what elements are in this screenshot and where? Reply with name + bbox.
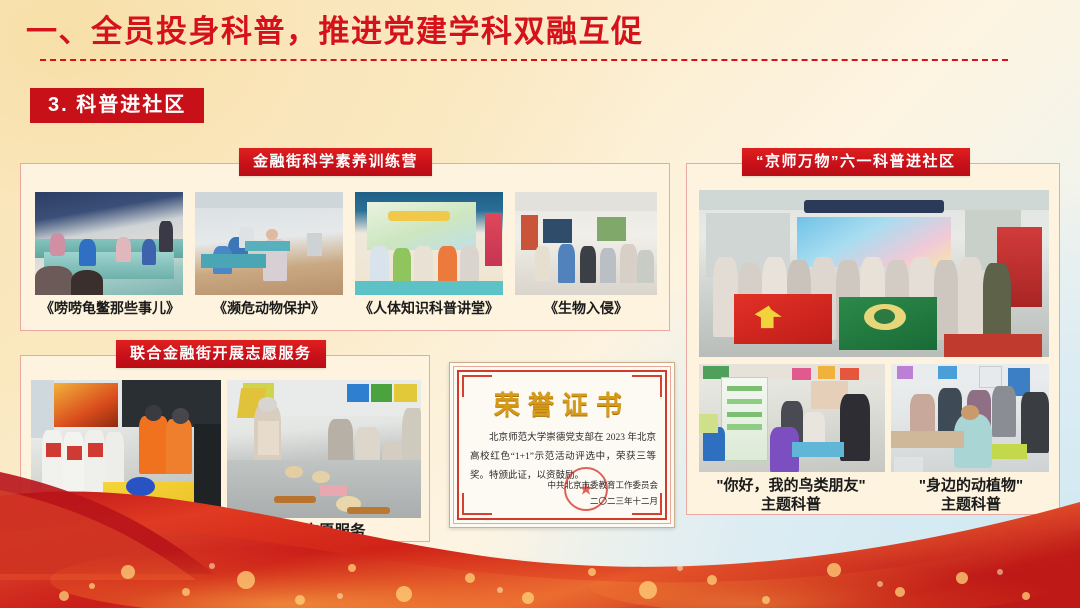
caption-plants-animals-line2: 主题科普 (887, 496, 1055, 515)
certificate-issuer: 中共北京市委教育工作委员会 (547, 477, 658, 493)
panel-community-outreach: “京师万物”六一科普进社区 (686, 163, 1060, 515)
caption-plants-animals: "身边的动植物" 主题科普 (887, 477, 1055, 515)
panel-training-camp: 金融街科学素养训练营 (20, 163, 670, 331)
caption-photo-4: 《生物入侵》 (513, 300, 659, 318)
photo-biological-invasion (515, 192, 657, 295)
title-divider (40, 59, 1008, 61)
caption-bird-friends-line1: "你好，我的鸟类朋友" (693, 477, 889, 496)
caption-photo-1: 《唠唠龟鳖那些事儿》 (35, 300, 185, 318)
photo-plants-animals-outreach (891, 364, 1049, 472)
caption-volunteer: 金融街安全科普辅助讲解、青教志愿服务 (21, 522, 431, 541)
panel-community-banner: “京师万物”六一科普进社区 (742, 148, 970, 176)
photo-human-body-lecture (355, 192, 503, 295)
caption-plants-animals-line1: "身边的动植物" (887, 477, 1055, 496)
certificate-date: 二〇二三年十二月 (547, 493, 658, 509)
slide-header: 一、全员投身科普，推进党建学科双融互促 (26, 10, 1056, 61)
caption-bird-friends: "你好，我的鸟类朋友" 主题科普 (693, 477, 889, 515)
page-title: 一、全员投身科普，推进党建学科双融互促 (26, 10, 1056, 54)
honor-certificate: 荣誉证书 北京师范大学崇德党支部在 2023 年北京高校红色“1+1”示范活动评… (449, 362, 675, 528)
photo-turtle-lecture (35, 192, 183, 295)
caption-photo-2: 《濒危动物保护》 (193, 300, 345, 318)
panel-volunteer-banner: 联合金融街开展志愿服务 (116, 340, 326, 368)
caption-photo-3: 《人体知识科普讲堂》 (351, 300, 507, 318)
slide-root: 一、全员投身科普，推进党建学科双融互促 3. 科普进社区 金融街科学素养训练营 (0, 0, 1080, 608)
photo-group-flag-ceremony (699, 190, 1049, 357)
certificate-signature: 中共北京市委教育工作委员会 二〇二三年十二月 (547, 477, 658, 509)
photo-baking-volunteer (227, 380, 421, 518)
photo-safety-education (31, 380, 221, 518)
caption-bird-friends-line2: 主题科普 (693, 496, 889, 515)
panel-volunteer-service: 联合金融街开展志愿服务 (20, 355, 430, 542)
panel-training-camp-banner: 金融街科学素养训练营 (239, 148, 432, 176)
photo-endangered-animals (195, 192, 343, 295)
section-badge: 3. 科普进社区 (30, 88, 204, 123)
photo-bird-friends-outreach (699, 364, 885, 472)
certificate-corner-bl (462, 493, 492, 515)
certificate-title: 荣誉证书 (450, 385, 674, 422)
